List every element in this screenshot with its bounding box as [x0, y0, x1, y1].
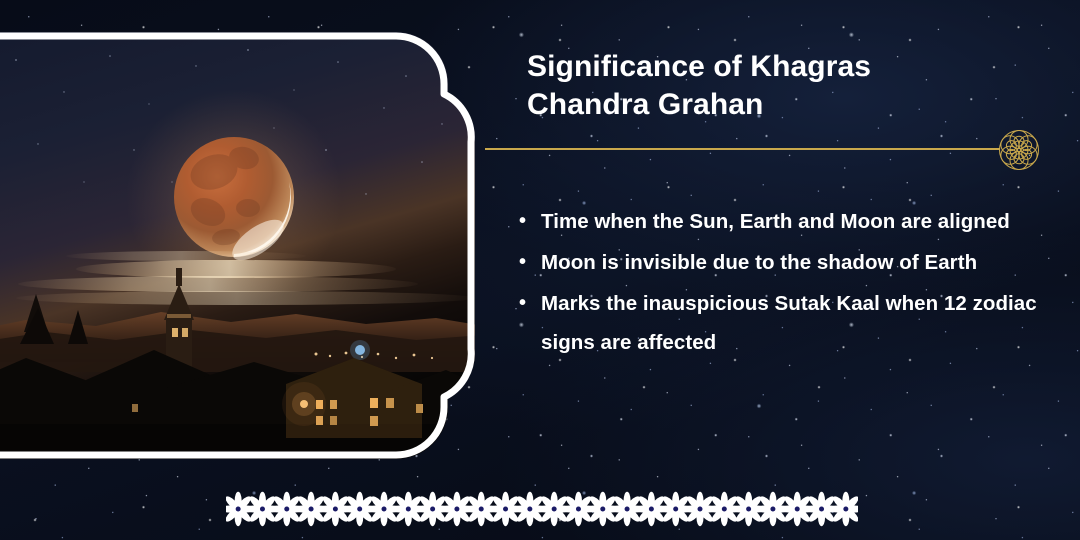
- rosette-mandala-icon: [998, 129, 1040, 171]
- list-item: Moon is invisible due to the shadow of E…: [517, 243, 1037, 282]
- list-item: Time when the Sun, Earth and Moon are al…: [517, 202, 1037, 241]
- title-line-1: Significance of Khagras: [527, 48, 947, 86]
- slide-canvas: Significance of Khagras Chandra Grahan: [0, 0, 1080, 540]
- divider-line: [485, 148, 1000, 150]
- significance-bullet-list: Time when the Sun, Earth and Moon are al…: [517, 202, 1037, 364]
- page-title: Significance of Khagras Chandra Grahan: [527, 48, 947, 125]
- title-line-2: Chandra Grahan: [527, 86, 947, 124]
- flower-border-decoration: [226, 487, 858, 531]
- eclipse-photo-card: [0, 32, 475, 459]
- divider: [485, 148, 1030, 151]
- list-item: Marks the inauspicious Sutak Kaal when 1…: [517, 284, 1037, 362]
